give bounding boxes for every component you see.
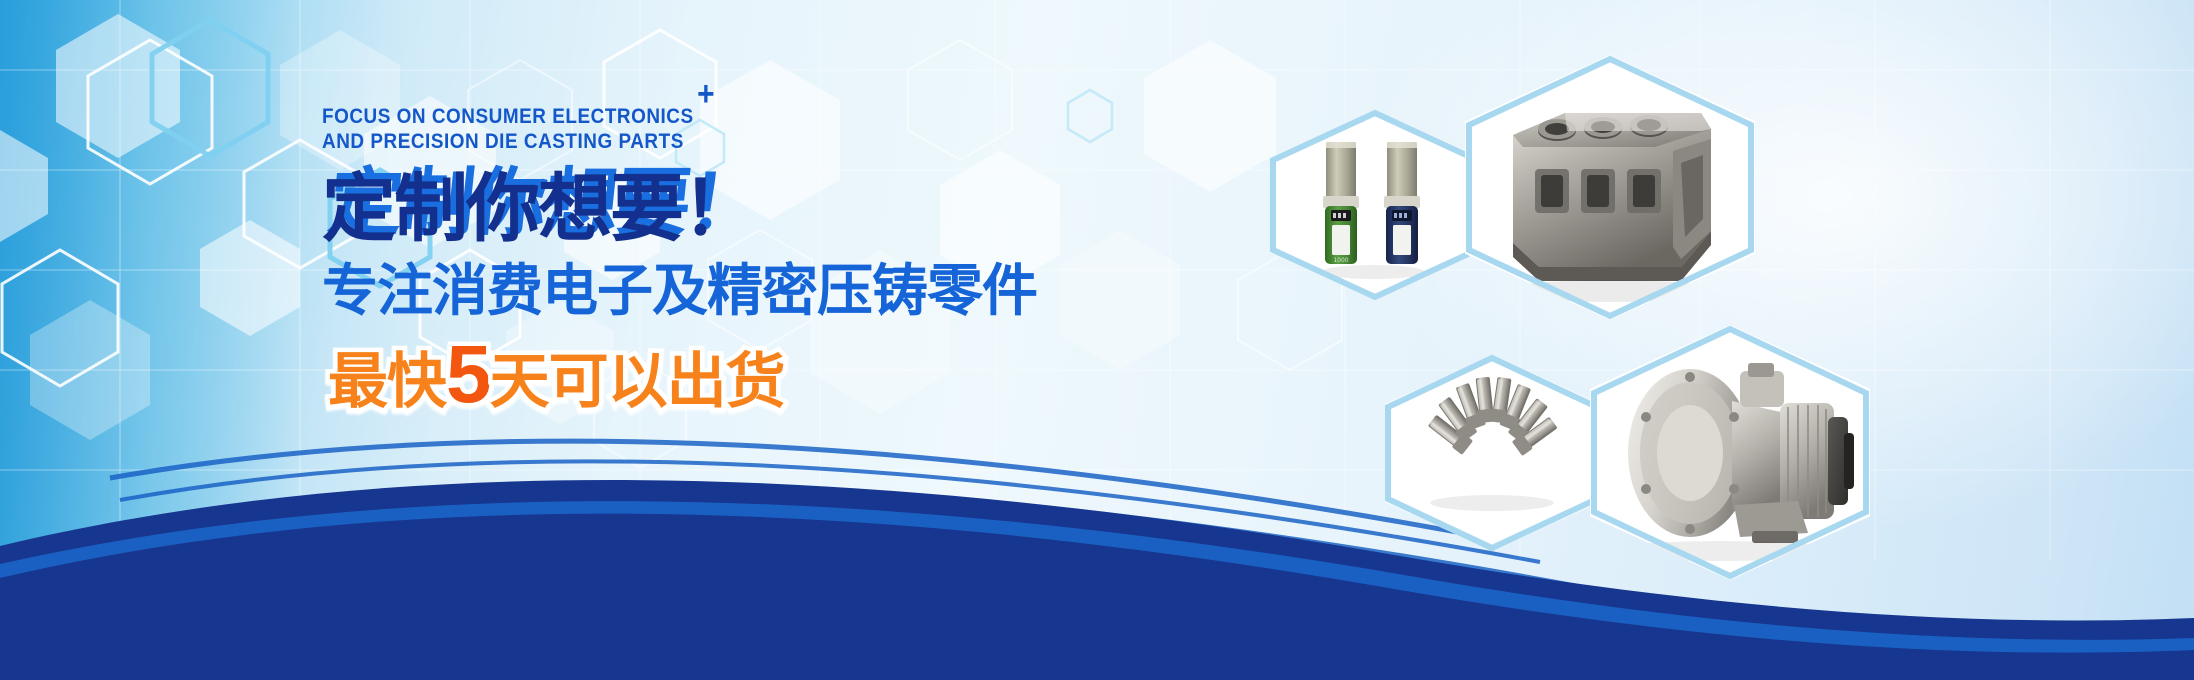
headline-copy-block: FOCUS ON CONSUMER ELECTRONICS+ AND PRECI…	[322, 94, 982, 419]
product-hex-sfp-modules-clip: 1000	[1270, 110, 1480, 300]
pin-array-icon	[1385, 355, 1600, 551]
promo-banner: FOCUS ON CONSUMER ELECTRONICS+ AND PRECI…	[0, 0, 2194, 680]
svg-text:1000: 1000	[1333, 257, 1348, 264]
transceiver-module-icon: 1000	[1270, 110, 1480, 300]
motor-assembly-icon	[1590, 325, 1870, 580]
product-hex-motor-assembly	[1590, 325, 1870, 580]
product-hex-pin-array-clip	[1385, 355, 1600, 551]
promo-line: 最快5天可以出货	[328, 338, 982, 419]
product-hex-engine-block	[1465, 55, 1755, 320]
product-hex-engine-block-clip	[1465, 55, 1755, 320]
eyebrow-line-1-text: FOCUS ON CONSUMER ELECTRONICS	[322, 104, 694, 128]
eyebrow-text: FOCUS ON CONSUMER ELECTRONICS+ AND PRECI…	[322, 94, 982, 154]
eyebrow-line-1: FOCUS ON CONSUMER ELECTRONICS+	[322, 94, 903, 129]
main-headline: 定制你想要！ 定制你想要！	[322, 166, 982, 252]
plus-icon: +	[697, 75, 715, 113]
headline-text: 定制你想要！	[322, 166, 754, 252]
engine-block-icon	[1465, 55, 1755, 320]
promo-number: 5	[446, 329, 490, 420]
promo-suffix: 天可以出货	[490, 348, 785, 415]
product-hex-sfp-modules: 1000	[1270, 110, 1480, 300]
sub-headline: 专注消费电子及精密压铸零件	[322, 258, 982, 324]
product-hex-pin-array	[1385, 355, 1600, 551]
promo-prefix: 最快	[328, 348, 446, 415]
product-hex-motor-assembly-clip	[1590, 325, 1870, 580]
eyebrow-line-2: AND PRECISION DIE CASTING PARTS	[322, 129, 903, 154]
